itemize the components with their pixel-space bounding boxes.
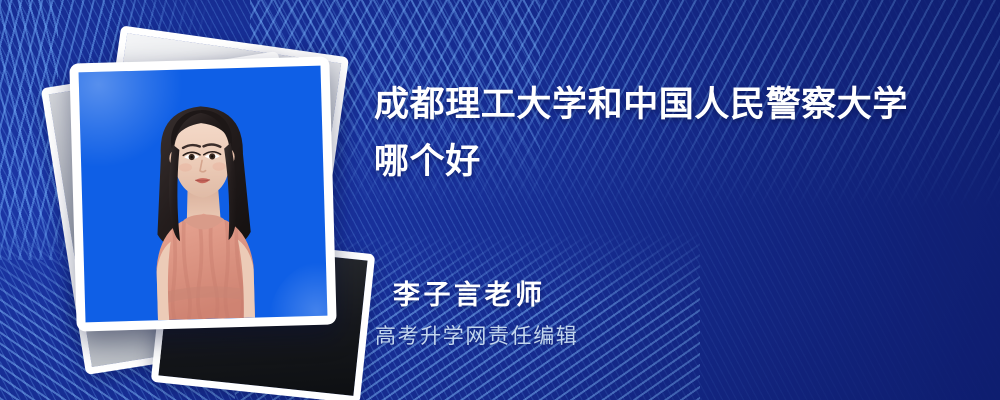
page-title-line-2: 哪个好 — [374, 133, 954, 190]
portrait-photo-image — [79, 66, 328, 323]
author-name: 李子言老师 — [393, 273, 546, 312]
page-title-line-1: 成都理工大学和中国人民警察大学 — [374, 76, 954, 133]
portrait-photo-frame — [79, 66, 328, 323]
article-hero-banner: 成都理工大学和中国人民警察大学 哪个好 李子言老师 高考升学网责任编辑 — [0, 0, 1000, 400]
author-role: 高考升学网责任编辑 — [375, 320, 578, 350]
portrait-photo-card — [69, 56, 336, 331]
text-column: 成都理工大学和中国人民警察大学 哪个好 李子言老师 高考升学网责任编辑 — [374, 0, 974, 400]
photo-card-stack — [40, 38, 370, 368]
page-title: 成都理工大学和中国人民警察大学 哪个好 — [374, 76, 954, 190]
